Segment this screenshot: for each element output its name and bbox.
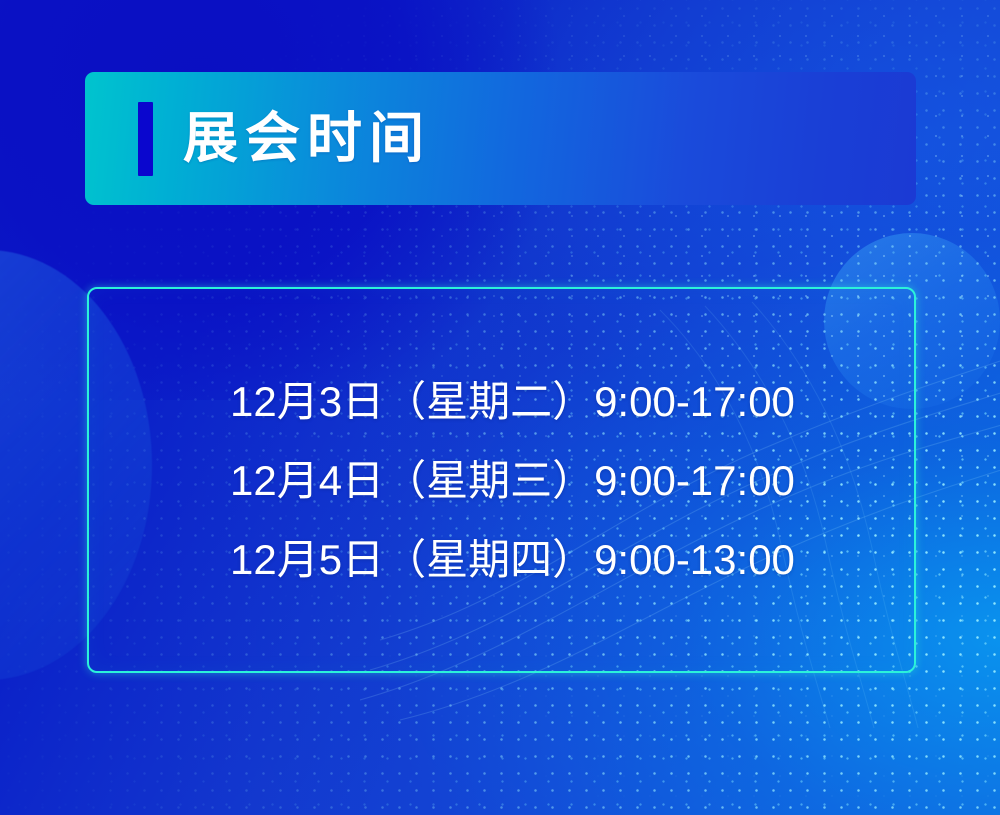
section-header-banner: 展会时间	[85, 72, 916, 205]
vertical-accent-bar	[138, 102, 153, 176]
schedule-line: 12月5日（星期四）9:00-13:00	[230, 520, 914, 599]
schedule-line: 12月3日（星期二）9:00-17:00	[230, 362, 914, 441]
page-title: 展会时间	[183, 111, 431, 166]
schedule-line: 12月4日（星期三）9:00-17:00	[230, 441, 914, 520]
schedule-panel: 12月3日（星期二）9:00-17:00 12月4日（星期三）9:00-17:0…	[87, 287, 916, 673]
poster-stage: 展会时间 12月3日（星期二）9:00-17:00 12月4日（星期三）9:00…	[0, 0, 1000, 815]
